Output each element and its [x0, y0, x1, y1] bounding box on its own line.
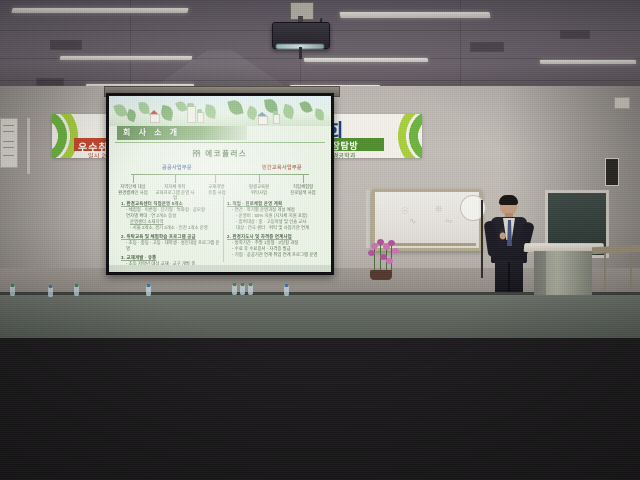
wall-vent	[614, 97, 630, 109]
slide-body-right-column: 1. 직업 · 진로체험 운영 계획 - 연간 · 학기별 운영과정 개설 예정…	[227, 198, 327, 258]
ceiling-vent	[36, 78, 64, 86]
ceiling-light	[339, 12, 490, 18]
mic-stand	[481, 200, 483, 278]
org-node: 직업체험형 진로탐색 사업	[283, 184, 323, 195]
slide-tower-icon	[197, 112, 204, 123]
slide-header-graphic	[109, 96, 331, 126]
org-group-label: 공공사업부문	[147, 164, 207, 171]
slide-line: - 기업 · 공공기관 연계 취업 연계 프로그램 운영	[227, 252, 327, 258]
slide-house-icon	[257, 112, 267, 122]
ceiling-vent	[470, 42, 504, 52]
org-group-label: 민간교육사업부문	[249, 164, 315, 171]
projection-screen: 회 사 소 개 ㈜ 에코플러스 공공사업부문 민간교육사업부문 지역단체 대상 …	[106, 93, 334, 275]
slide-org-chart: 공공사업부문 민간교육사업부문 지역단체 대상 환경캠페인 사업 지자체 위탁 …	[117, 162, 323, 196]
ceiling: PROJECTOR	[0, 0, 640, 92]
slide-footer-bar	[109, 265, 331, 272]
auditorium-photo: PROJECTOR 200 우수취업 일시 2009. 수회 취업현장탐방 대학…	[0, 0, 640, 480]
wall-pipe	[26, 118, 30, 174]
projector-stem	[299, 47, 302, 59]
wall-notice	[0, 118, 18, 168]
slide-divider	[115, 142, 325, 143]
banner-chevron-icon	[374, 114, 422, 158]
org-node: 교재개발· 유통 사업	[197, 184, 237, 195]
flower-arrangement	[358, 238, 406, 280]
auditorium-seating	[0, 276, 640, 480]
slide-line: 대상 : 전국 센터 · 위탁 및 사업기관 연계	[227, 225, 327, 231]
slide-body-left-column: 1. 환경교육센터 직접운영 5개소 - 체험형 · 이론형 · 단기형 · 특…	[121, 198, 221, 272]
ceiling-light	[60, 56, 193, 60]
org-connector	[131, 174, 309, 175]
slide-title: 회 사 소 개	[123, 127, 180, 138]
org-node: 평생교육원 위탁사업	[239, 184, 279, 195]
slide-line: - 서울 2개소, 경기 3개소 · 인천 1개소 운영	[121, 225, 221, 231]
ceiling-light	[540, 60, 637, 64]
ceiling-vent	[50, 40, 82, 50]
ceiling-light	[11, 8, 188, 13]
slide-house-icon	[149, 110, 159, 121]
slide-company-name: ㈜ 에코플러스	[109, 148, 331, 159]
ceiling-light	[304, 58, 429, 62]
org-node: 지역단체 대상 환경캠페인 사업	[113, 184, 153, 195]
ceiling-vent	[560, 30, 590, 39]
slide-tower-icon	[187, 106, 196, 123]
slide-line: - 초등 · 중등 · 고등 · 대학생 · 성인대상 프로그램 운영	[121, 240, 221, 252]
presenter-hair	[499, 195, 518, 205]
projector-label: PROJECTOR	[549, 51, 597, 57]
slide-column-divider	[223, 196, 224, 262]
presentation-slide: 회 사 소 개 ㈜ 에코플러스 공공사업부문 민간교육사업부문 지역단체 대상 …	[109, 96, 331, 272]
wall-speaker	[605, 158, 619, 186]
slide-tower-icon	[273, 114, 280, 124]
